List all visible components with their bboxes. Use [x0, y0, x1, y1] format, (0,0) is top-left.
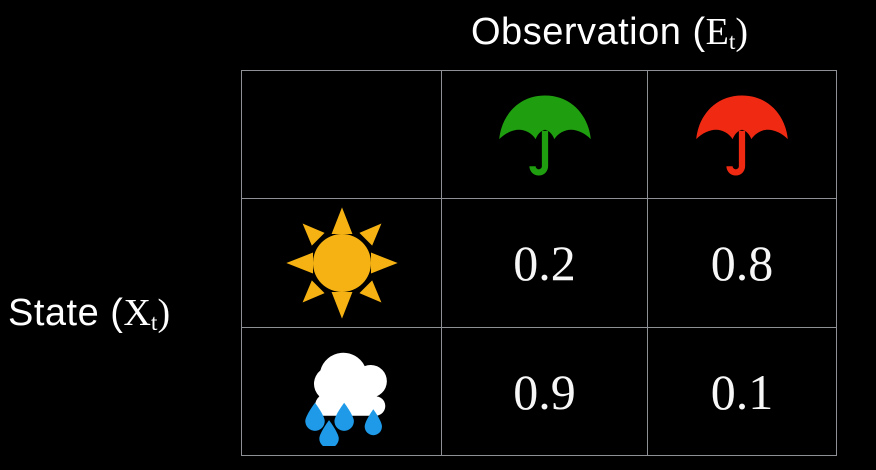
probability-value: 0.2: [442, 238, 647, 288]
red-umbrella-icon: [648, 71, 836, 198]
state-title-plain: State (: [8, 292, 123, 334]
state-variable-letter: X: [123, 292, 150, 334]
row-header-sun: [242, 199, 442, 328]
sun-icon: [242, 199, 441, 327]
observation-title-variable: Et): [706, 11, 748, 53]
probability-cell: 0.9: [442, 328, 648, 456]
observation-axis-title: Observation (Et): [471, 9, 748, 60]
state-variable-subscript: t: [151, 310, 158, 336]
row-header-rain: [242, 328, 442, 456]
observation-model-table: 0.2 0.8: [241, 70, 837, 456]
probability-cell: 0.8: [648, 199, 837, 328]
state-axis-title: State (Xt): [8, 290, 170, 341]
observation-variable-subscript: t: [729, 29, 736, 55]
probability-value: 0.8: [648, 238, 836, 288]
green-umbrella-icon: [442, 71, 647, 198]
observation-title-close: ): [735, 11, 748, 53]
column-header-red-umbrella: [648, 71, 837, 199]
rain-cloud-icon: [242, 328, 441, 455]
column-header-green-umbrella: [442, 71, 648, 199]
observation-variable-letter: E: [706, 11, 729, 53]
state-title-close: ): [157, 292, 170, 334]
observation-title-plain: Observation (: [471, 11, 706, 53]
probability-value: 0.1: [648, 367, 836, 417]
probability-value: 0.9: [442, 367, 647, 417]
table-row: 0.2 0.8: [242, 199, 837, 328]
table-header-row: [242, 71, 837, 199]
probability-cell: 0.2: [442, 199, 648, 328]
probability-cell: 0.1: [648, 328, 837, 456]
state-title-variable: Xt): [123, 292, 170, 334]
table-corner-cell: [242, 71, 442, 199]
table-row: 0.9 0.1: [242, 328, 837, 456]
slide-canvas: Observation (Et) State (Xt): [0, 0, 876, 470]
